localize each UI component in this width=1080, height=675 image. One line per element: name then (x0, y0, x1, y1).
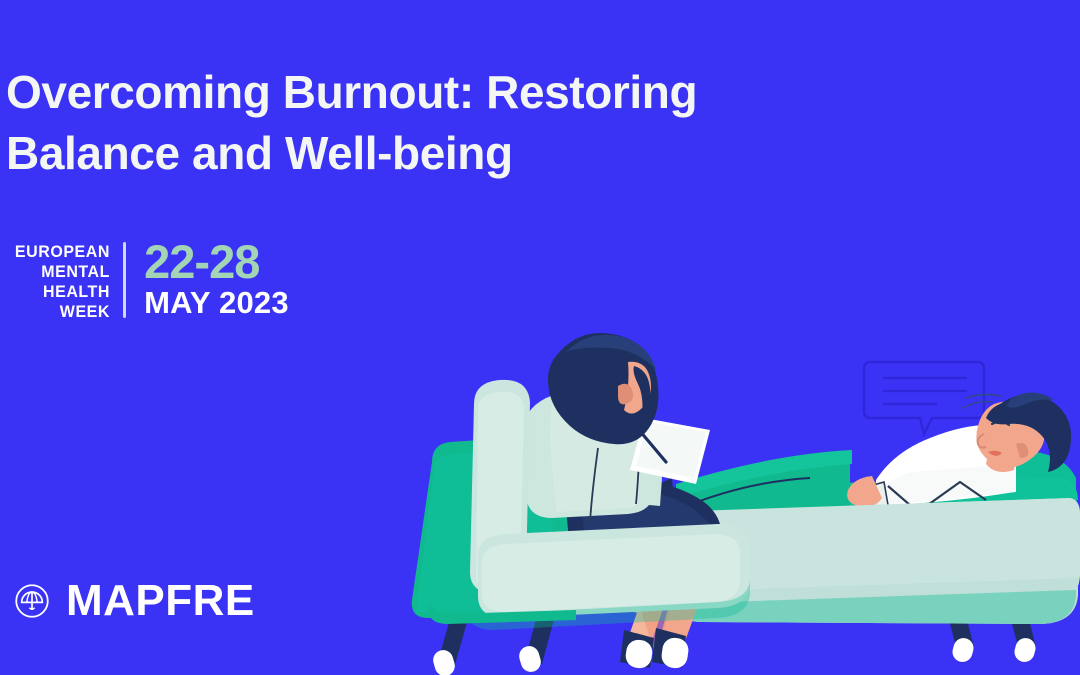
brand-name: MAPFRE (66, 579, 255, 623)
campaign-name-line-2: MENTAL (15, 262, 110, 282)
headline-line-1: Overcoming Burnout: Restoring (6, 62, 866, 123)
mapfre-logo-mark-icon (14, 583, 50, 619)
campaign-date-range: 22-28 (144, 240, 289, 283)
speech-bubble (864, 362, 984, 434)
armchair-front-arm (428, 380, 750, 630)
patient-reclining-on-couch (642, 392, 1071, 558)
therapist-seated-in-armchair (522, 333, 722, 670)
campaign-month-year: MAY 2023 (144, 287, 289, 320)
page-title: Overcoming Burnout: Restoring Balance an… (6, 62, 866, 184)
poster-canvas: Overcoming Burnout: Restoring Balance an… (0, 0, 1080, 675)
mint-therapy-couch (664, 451, 1080, 664)
campaign-name-line-4: WEEK (15, 302, 110, 322)
notepad-and-pen (630, 418, 710, 484)
headline-line-2: Balance and Well-being (6, 123, 866, 184)
campaign-dates: 22-28 MAY 2023 (126, 240, 289, 322)
brand-lockup: MAPFRE (14, 579, 255, 623)
campaign-name-line-3: HEALTH (15, 282, 110, 302)
campaign-name-line-1: EUROPEAN (15, 242, 110, 262)
green-armchair (412, 434, 588, 675)
campaign-lockup: EUROPEAN MENTAL HEALTH WEEK 22-28 MAY 20… (8, 240, 289, 322)
campaign-name: EUROPEAN MENTAL HEALTH WEEK (15, 240, 123, 322)
couch-front-panel (664, 498, 1080, 624)
